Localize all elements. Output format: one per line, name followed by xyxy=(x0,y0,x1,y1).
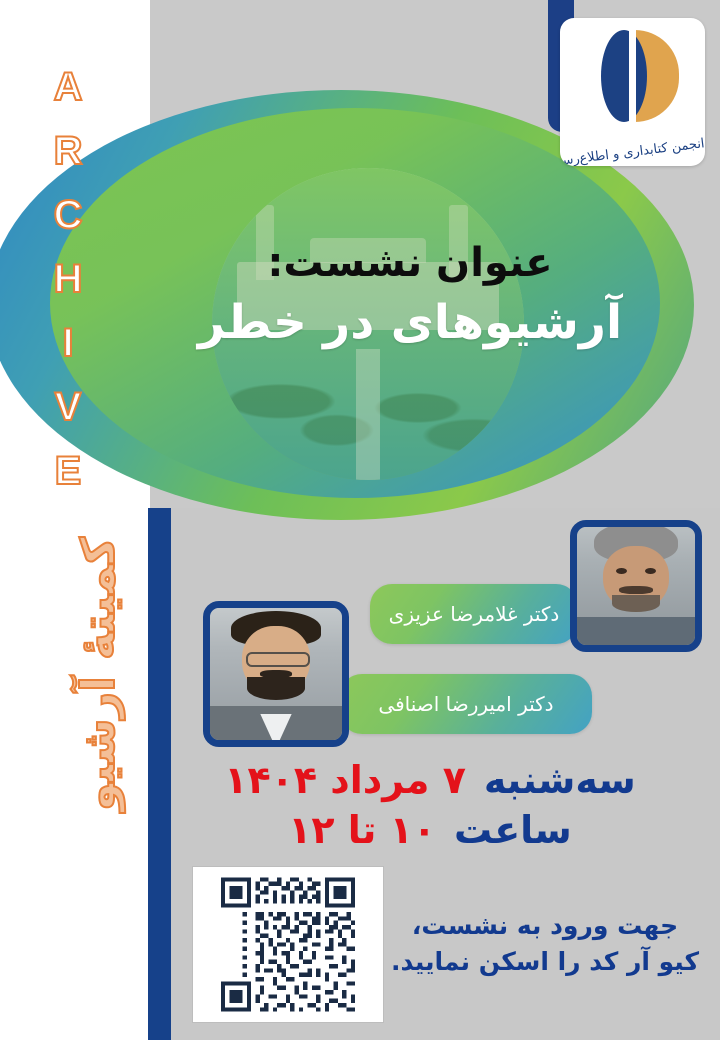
speaker-photo-1 xyxy=(570,520,702,652)
logo-circle-icon xyxy=(587,30,679,122)
session-title-label: عنوان نشست: xyxy=(150,238,670,288)
date-value: ۷ مرداد ۱۴۰۴ xyxy=(224,758,466,802)
speaker-name-badge-2: دکتر امیررضا اصنافی xyxy=(340,674,592,734)
logo-white-gap xyxy=(629,28,636,124)
speaker-1-portrait xyxy=(577,527,695,645)
archive-letter: I xyxy=(62,311,73,375)
portrait-beard xyxy=(612,595,659,612)
date-row: سه‌شنبه۷ مرداد ۱۴۰۴ xyxy=(170,755,690,805)
speaker-2-portrait xyxy=(210,608,342,740)
time-label: ساعت xyxy=(454,808,572,852)
navy-accent-bar-left xyxy=(148,508,171,1040)
speaker-name-1: دکتر غلامرضا عزیزی xyxy=(389,602,560,626)
qr-instruction-line-2: کیو آر کد را اسکن نمایید. xyxy=(390,944,700,980)
committee-label-text: کمیتۀ آرشیو xyxy=(71,537,125,811)
portrait-moustache xyxy=(619,586,652,594)
qr-instruction-block: جهت ورود به نشست، کیو آر کد را اسکن نمای… xyxy=(390,908,700,981)
archive-letter: V xyxy=(55,375,82,439)
portrait-beard xyxy=(247,677,305,701)
qr-instruction-line-1: جهت ورود به نشست، xyxy=(390,908,700,944)
speaker-name-2: دکتر امیررضا اصنافی xyxy=(378,692,553,716)
portrait-eye-left xyxy=(616,568,627,574)
garden-path xyxy=(356,349,381,480)
archive-letter: A xyxy=(54,55,83,119)
archive-letter: H xyxy=(54,247,83,311)
time-row: ساعت۱۰ تا ۱۲ xyxy=(170,805,690,855)
archive-vertical-wordmark: A R C H I V E xyxy=(38,55,98,503)
logo-blue-crescent xyxy=(601,30,647,122)
poster-canvas: A R C H I V E کمیتۀ آرشیو انجمن کتابداری… xyxy=(0,0,720,1040)
portrait-suit xyxy=(577,617,695,645)
datetime-block: سه‌شنبه۷ مرداد ۱۴۰۴ ساعت۱۰ تا ۱۲ xyxy=(170,755,690,855)
qr-code-icon[interactable] xyxy=(199,873,377,1016)
time-value: ۱۰ تا ۱۲ xyxy=(288,808,436,852)
speaker-photo-2 xyxy=(203,601,349,747)
archive-letter: R xyxy=(54,119,83,183)
logo-calligraphy-text: انجمن کتابداری و اطلاع‌رسانی ایران xyxy=(560,136,705,166)
archive-letter: E xyxy=(55,439,82,503)
archive-letter: C xyxy=(54,183,83,247)
title-block: عنوان نشست: آرشیوهای در خطر xyxy=(150,238,670,353)
qr-code-panel[interactable] xyxy=(193,867,383,1022)
portrait-glasses xyxy=(246,652,311,668)
speaker-name-badge-1: دکتر غلامرضا عزیزی xyxy=(370,584,578,644)
session-title-main: آرشیوهای در خطر xyxy=(150,292,670,353)
weekday-label: سه‌شنبه xyxy=(484,758,636,802)
association-logo-card: انجمن کتابداری و اطلاع‌رسانی ایران xyxy=(560,18,705,166)
committee-vertical-label: کمیتۀ آرشیو xyxy=(71,537,125,797)
